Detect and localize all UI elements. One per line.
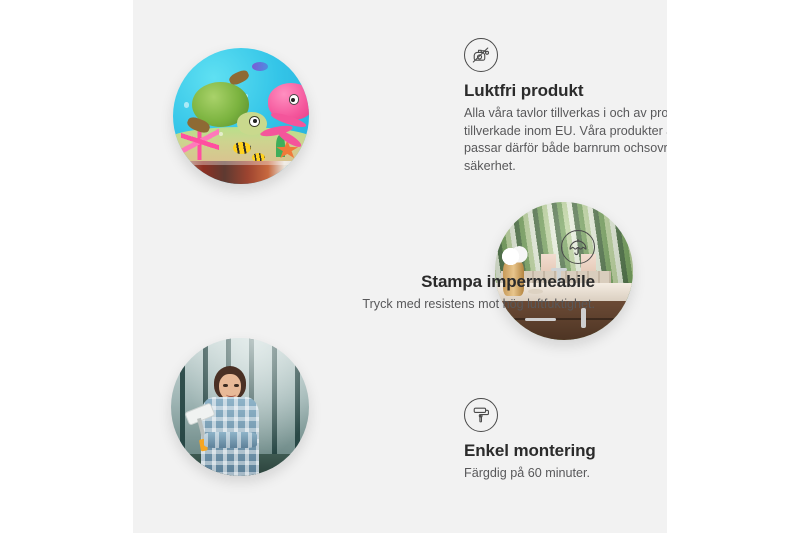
feature-block-odorless: Luktfri produkt Alla våra tavlor tillver… [464, 38, 667, 175]
eye [234, 384, 238, 387]
feature-title: Enkel montering [464, 441, 667, 461]
drawer-divider [495, 318, 633, 320]
feature-title: Stampa impermeabile [333, 272, 595, 292]
umbrella-icon [561, 230, 595, 264]
feature-block-easy-assembly: Enkel montering Färgdig på 60 minuter. [464, 398, 667, 483]
feature-title: Luktfri produkt [464, 81, 667, 101]
bubble-icon [184, 102, 189, 107]
woman-paint-roller-forest-thumbnail[interactable] [171, 338, 309, 476]
feature-description: Färgdig på 60 minuter. [464, 465, 667, 483]
feature-description: Alla våra tavlor tillverkas i och av pro… [464, 105, 667, 175]
content-panel: Luktfri produkt Alla våra tavlor tillver… [133, 0, 667, 533]
paint-roller-icon [464, 398, 498, 432]
yellow-fish-icon [233, 142, 251, 154]
underwater-kids-mural-thumbnail[interactable] [173, 48, 309, 184]
eye [223, 384, 227, 387]
promo-feature-banner: Luktfri produkt Alla våra tavlor tillver… [0, 0, 800, 533]
room-photo-strip [173, 161, 309, 184]
feature-description: Tryck med resistens mot hög luftfuktighe… [333, 296, 595, 314]
folded-arms [204, 432, 256, 449]
purple-fish-icon [252, 62, 268, 72]
no-fragrance-icon [464, 38, 498, 72]
turtle-eye [249, 116, 260, 127]
smile [226, 392, 236, 397]
feature-block-waterproof: Stampa impermeabile Tryck med resistens … [333, 230, 595, 314]
drawer-handle [525, 318, 555, 321]
